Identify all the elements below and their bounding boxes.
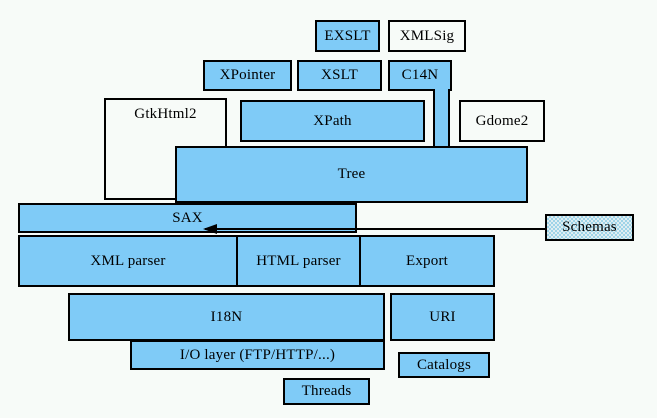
node-xpath[interactable]: XPath bbox=[240, 100, 425, 142]
connector-schemas-to-parser-line bbox=[205, 228, 547, 230]
node-i18n[interactable]: I18N bbox=[68, 293, 385, 341]
node-schemas[interactable]: Schemas bbox=[545, 214, 634, 241]
node-xml-parser[interactable]: XML parser bbox=[18, 235, 238, 287]
node-tree[interactable]: Tree bbox=[175, 146, 528, 203]
node-xslt[interactable]: XSLT bbox=[297, 60, 382, 91]
node-threads[interactable]: Threads bbox=[283, 378, 370, 405]
node-html-parser[interactable]: HTML parser bbox=[236, 235, 361, 287]
node-xmlsig[interactable]: XMLSig bbox=[388, 20, 466, 52]
node-c14n[interactable]: C14N bbox=[388, 60, 452, 91]
architecture-diagram: EXSLT XMLSig XPointer XSLT C14N GtkHtml2… bbox=[0, 0, 657, 418]
node-exslt[interactable]: EXSLT bbox=[315, 20, 380, 52]
node-catalogs[interactable]: Catalogs bbox=[398, 352, 490, 378]
node-export[interactable]: Export bbox=[359, 235, 495, 287]
connector-c14n-to-tree bbox=[433, 89, 450, 148]
node-gdome2[interactable]: Gdome2 bbox=[459, 100, 545, 142]
connector-schemas-to-parser-arrowhead bbox=[203, 224, 217, 234]
node-uri[interactable]: URI bbox=[390, 293, 495, 341]
node-xpointer[interactable]: XPointer bbox=[203, 60, 292, 91]
node-io-layer[interactable]: I/O layer (FTP/HTTP/...) bbox=[130, 340, 385, 370]
